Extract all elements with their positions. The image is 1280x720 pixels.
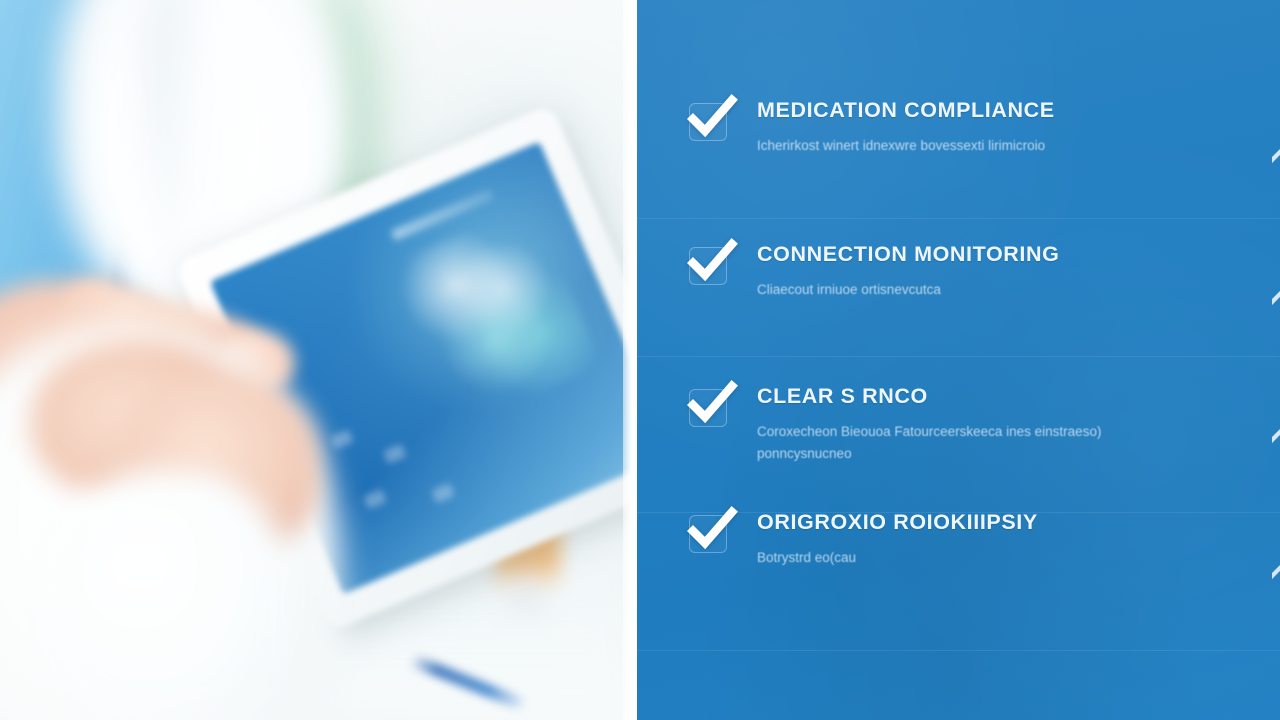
check-glyph [686,94,736,144]
check-icon-partial [1272,556,1280,586]
lab-coat-sleeve [40,470,290,720]
tablet-screen-icon [330,429,354,450]
row-separator [637,650,1280,651]
feature-title: CONNECTION MONITORING [757,242,1250,267]
checkbox-checked-icon[interactable] [687,385,731,429]
checkbox-checked-icon[interactable] [687,243,731,287]
feature-text: CLEAR S RNCO Coroxecheon Bieouoa Fatourc… [757,382,1250,464]
feature-description: Botrystrd eo(cau [757,547,1157,569]
feature-item[interactable]: ORIGROXIO ROIOKIIIPSIY Botrystrd eo(cau [637,508,1280,608]
tablet-screen-icon [363,489,387,510]
tablet-screen-graphic [389,203,603,427]
check-glyph [686,238,736,288]
checkbox-checked-icon[interactable] [687,99,731,143]
bottle-base [500,580,552,620]
check-icon-partial [1272,420,1280,450]
feature-description: Icherirkost winert idnexwre bovessexti l… [757,135,1157,157]
check-icon-partial [1272,282,1280,312]
tablet-screen-icon [383,444,407,465]
check-glyph [686,380,736,430]
feature-item[interactable]: CONNECTION MONITORING Cliaecout irniuoe … [637,240,1280,340]
feature-list-panel: MEDICATION COMPLIANCE Icherirkost winert… [637,0,1280,720]
feature-text: MEDICATION COMPLIANCE Icherirkost winert… [757,96,1250,157]
check-icon-partial [1272,140,1280,170]
panel-gutter [623,0,637,720]
feature-description: Coroxecheon Bieouoa Fatourceerskeeca ine… [757,421,1157,465]
tablet-screen-icon [431,483,455,504]
feature-list: MEDICATION COMPLIANCE Icherirkost winert… [637,0,1280,608]
checkbox-checked-icon[interactable] [687,511,731,555]
feature-description: Cliaecout irniuoe ortisnevcutca [757,279,1157,301]
feature-item[interactable]: CLEAR S RNCO Coroxecheon Bieouoa Fatourc… [637,382,1280,482]
slide-canvas: MEDICATION COMPLIANCE Icherirkost winert… [0,0,1280,720]
feature-text: ORIGROXIO ROIOKIIIPSIY Botrystrd eo(cau [757,508,1250,569]
feature-title: ORIGROXIO ROIOKIIIPSIY [757,510,1250,535]
feature-text: CONNECTION MONITORING Cliaecout irniuoe … [757,240,1250,301]
photo-panel [0,0,637,720]
feature-title: MEDICATION COMPLIANCE [757,98,1250,123]
feature-title: CLEAR S RNCO [757,384,1250,409]
feature-item[interactable]: MEDICATION COMPLIANCE Icherirkost winert… [637,96,1280,196]
check-glyph [686,506,736,556]
